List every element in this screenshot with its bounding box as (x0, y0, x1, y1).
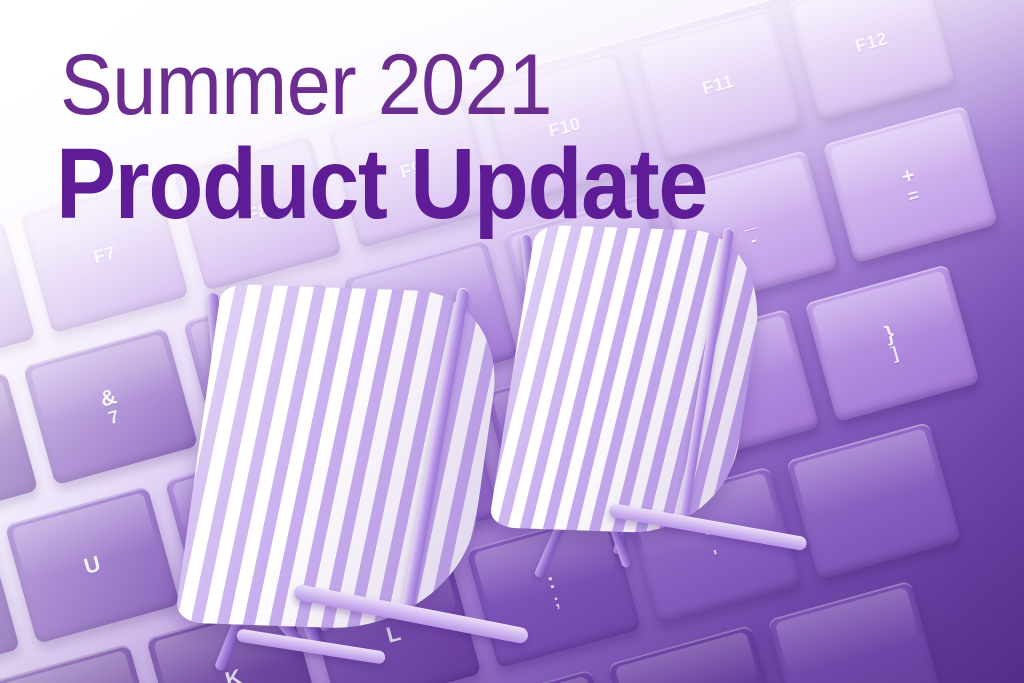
key-label: U (82, 551, 104, 578)
headline-line-2: Product Update (56, 134, 707, 234)
deck-chair-front (190, 288, 610, 660)
keyboard-key-U-2-2: U (5, 486, 180, 644)
key-label: &7 (98, 384, 125, 429)
key-label: F7 (92, 243, 118, 267)
key-label: K (223, 665, 245, 683)
keyboard-key-J-3-2: J (0, 644, 162, 683)
key-label: }] (882, 321, 902, 364)
key-sublabel: = (905, 185, 923, 207)
key-label: += (899, 162, 923, 206)
keyboard-key-blank-4-6 (608, 625, 783, 683)
key-sublabel: 7 (104, 406, 125, 429)
headline-block: Summer 2021 Product Update (60, 42, 779, 234)
key-sublabel: ] (889, 344, 903, 365)
headline-line-1: Summer 2021 (60, 42, 722, 128)
keyboard-key-sym-1-2: &7 (24, 327, 199, 485)
key-label: F12 (853, 29, 889, 56)
banner-image: F5F6F7F8F9F10F11F12%5^6&7*8(9)0_-+=TYUIO… (0, 0, 1024, 683)
keyboard-key-F12-0-7: F12 (787, 0, 956, 120)
keyboard-key-blank-4-7 (768, 580, 943, 683)
